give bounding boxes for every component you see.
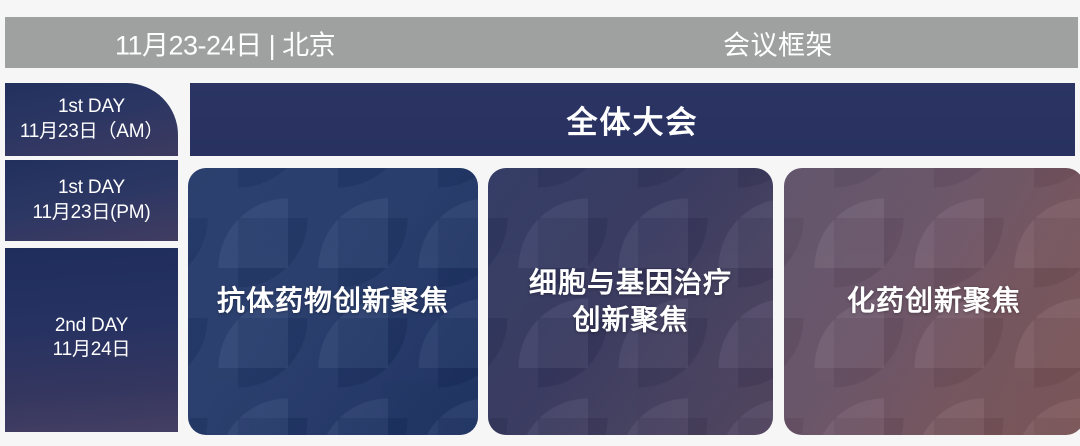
session-card-antibody: 抗体药物创新聚焦 <box>188 168 478 435</box>
session-card-label: 化药创新聚焦 <box>847 283 1021 319</box>
day-block-1st-day-pm: 1st DAY 11月23日(PM) <box>5 160 178 241</box>
session-card-chemical-drug: 化药创新聚焦 <box>784 168 1080 435</box>
day-date: 11月23日（AM） <box>20 120 163 144</box>
day-date: 11月23日(PM) <box>32 201 150 225</box>
day-block-2nd-day: 2nd DAY 11月24日 <box>5 248 178 432</box>
plenary-session-label: 全体大会 <box>567 97 699 142</box>
header-title: 会议框架 <box>723 23 833 62</box>
conference-agenda-graphic: 11月23-24日 | 北京 会议框架 1st DAY 11月23日（AM） 1… <box>0 0 1080 446</box>
day-label: 2nd DAY <box>55 314 128 338</box>
session-label-line-1: 细胞与基因治疗 <box>529 265 732 301</box>
session-card-cell-gene-therapy: 细胞与基因治疗 创新聚焦 <box>488 168 773 435</box>
session-label-line-1: 化药创新聚焦 <box>847 283 1021 319</box>
header-date-location: 11月23-24日 | 北京 <box>115 23 335 62</box>
plenary-session-banner: 全体大会 <box>190 83 1075 156</box>
day-block-1st-day-am: 1st DAY 11月23日（AM） <box>5 83 178 156</box>
session-card-label: 细胞与基因治疗 创新聚焦 <box>529 265 732 338</box>
header-bar: 11月23-24日 | 北京 会议框架 <box>5 17 1078 68</box>
session-card-label: 抗体药物创新聚焦 <box>217 283 449 319</box>
day-label: 1st DAY <box>58 176 125 200</box>
day-date: 11月24日 <box>53 338 131 362</box>
day-label: 1st DAY <box>58 95 125 119</box>
session-label-line-2: 创新聚焦 <box>529 302 732 338</box>
session-label-line-1: 抗体药物创新聚焦 <box>217 283 449 319</box>
